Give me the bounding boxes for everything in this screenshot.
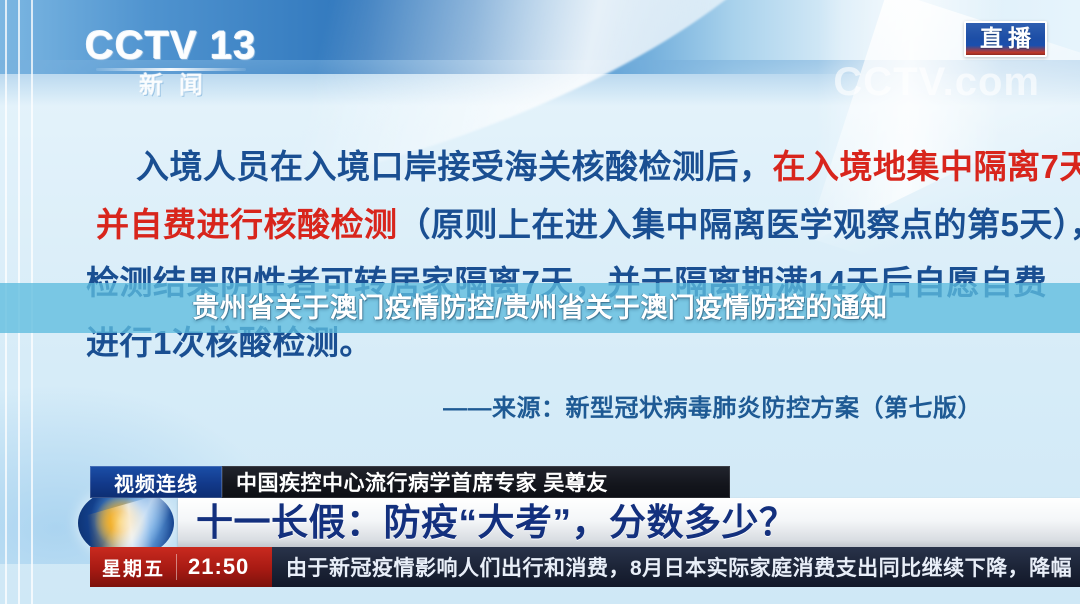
slide-line-1-blue: 入境人员在入境口岸接受海关核酸检测后，	[136, 148, 773, 185]
slide-source-attribution: ——来源：新型冠状病毒肺炎防控方案（第七版）	[443, 388, 982, 423]
live-badge-label: 直播	[975, 26, 1036, 50]
broadcast-screen: CCTV 13 新闻 直播 CCTV.com 入境人员在入境口岸接受海关核酸检测…	[0, 0, 1080, 604]
channel-logo: CCTV 13 新闻	[66, 26, 276, 101]
channel-logo-text: CCTV 13	[66, 26, 276, 66]
channel-logo-underline	[96, 68, 246, 71]
ticker-time: 21:50	[188, 554, 249, 580]
ticker-text: 由于新冠疫情影响人们出行和消费，8月日本实际家庭消费支出同比继续下降，降幅	[272, 547, 1080, 587]
cctv-watermark: CCTV.com	[833, 60, 1040, 105]
ticker-clock: 星期五 21:50	[90, 547, 272, 587]
overlay-caption-text: 贵州省关于澳门疫情防控/贵州省关于澳门疫情防控的通知	[0, 289, 1080, 327]
lower-third: 视频连线 中国疾控中心流行病学首席专家 吴尊友 十一长假：防疫“大考”，分数多少…	[78, 466, 1080, 558]
slide-line-2: 并自费进行核酸检测（原则上在进入集中隔离医学观察点的第5天），	[96, 208, 1080, 241]
ticker-day: 星期五	[90, 554, 165, 581]
channel-logo-subtitle: 新闻	[66, 72, 276, 101]
news-ticker: 星期五 21:50 由于新冠疫情影响人们出行和消费，8月日本实际家庭消费支出同比…	[90, 547, 1080, 587]
slide-line-2-blue: （原则上在进入集中隔离医学观察点的第5天），	[398, 206, 1080, 243]
guest-title: 中国疾控中心流行病学首席专家 吴尊友	[222, 466, 730, 498]
slide-line-1-red: 在入境地集中隔离7天	[773, 148, 1080, 185]
video-connection-tag: 视频连线	[90, 466, 222, 498]
live-badge: 直播	[964, 21, 1047, 57]
slide-line-1: 入境人员在入境口岸接受海关核酸检测后，在入境地集中隔离7天	[136, 150, 1080, 183]
headline-text: 十一长假：防疫“大考”，分数多少？	[196, 500, 797, 545]
lower-third-title-strip: 视频连线 中国疾控中心流行病学首席专家 吴尊友	[90, 466, 730, 498]
ticker-divider	[176, 554, 177, 580]
slide-line-2-red: 并自费进行核酸检测	[96, 206, 398, 243]
